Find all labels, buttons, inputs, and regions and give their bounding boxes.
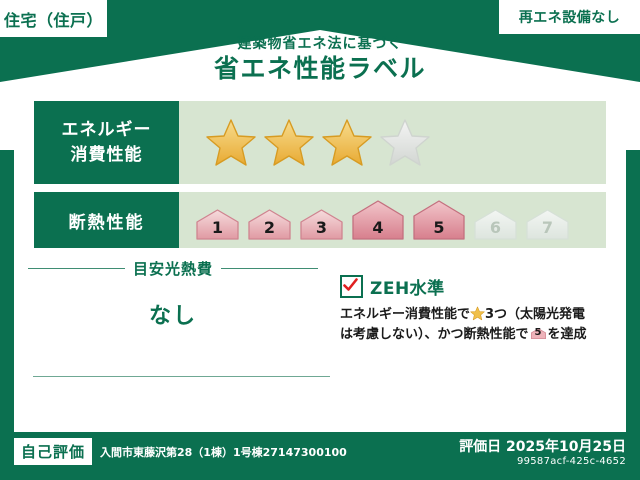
inline-grade-value: 5 (530, 325, 547, 341)
evaluation-type-badge: 自己評価 (14, 438, 92, 465)
grade-badge-4-value: 4 (349, 218, 407, 237)
grade-badge-6-value: 6 (471, 218, 520, 237)
inline-star-icon (470, 306, 485, 321)
check-icon (343, 278, 358, 293)
energy-performance-value (179, 117, 606, 169)
label-title: 建築物省エネ法に基づく 省エネ性能ラベル (0, 37, 640, 83)
star-rating (179, 117, 431, 169)
zeh-checkbox[interactable] (340, 275, 363, 298)
label-card: エネルギー 消費性能 (14, 88, 626, 432)
energy-label-line2: 消費性能 (71, 143, 143, 168)
zeh-heading: ZEH水準 (340, 274, 615, 299)
energy-label-line1: エネルギー (62, 118, 152, 143)
grade-badge-2: 2 (245, 206, 294, 242)
grade-badge-5-value: 5 (410, 218, 468, 237)
row-insulation-performance: 断熱性能 1 2 (34, 192, 606, 248)
property-address: 入間市東藤沢第28（1棟）1号棟27147300100 (100, 444, 347, 460)
evaluation-id: 99587acf-425c-4652 (517, 456, 626, 467)
utility-cost-heading: 目安光熱費 (28, 258, 318, 279)
energy-performance-label: 住宅（住戸） 再エネ設備なし 建築物省エネ法に基づく 省エネ性能ラベル エネルギ… (0, 0, 640, 480)
utility-cost-value: なし (28, 298, 318, 330)
zeh-description: エネルギー消費性能で3つ（太陽光発電 は考慮しない）、かつ断熱性能で5を達成 (340, 305, 615, 345)
grade-badge-3-value: 3 (297, 218, 346, 237)
grade-badge-7-value: 7 (523, 218, 572, 237)
star-icon-empty-4 (379, 117, 431, 169)
label-footer: 自己評価 入間市東藤沢第28（1棟）1号棟27147300100 評価日 202… (0, 432, 640, 480)
grade-badge-1: 1 (193, 206, 242, 242)
zeh-desc-stars: 3つ（太陽光発電 (485, 307, 585, 322)
star-icon-filled-3 (321, 117, 373, 169)
title-subtitle: 建築物省エネ法に基づく (0, 37, 640, 52)
grade-badge-3: 3 (297, 206, 346, 242)
star-icon-filled-2 (263, 117, 315, 169)
grade-badge-4: 4 (349, 198, 407, 242)
lower-section: 目安光熱費 なし ZEH水準 エネルギー消費性能で3つ（太陽光発電 は考慮しない… (14, 256, 626, 432)
lower-divider-rule (33, 376, 330, 377)
zeh-desc-part2: は考慮しない）、かつ断熱性能で (340, 327, 529, 342)
tab-renewable-status: 再エネ設備なし (499, 0, 640, 34)
zeh-desc-part1: エネルギー消費性能で (340, 307, 470, 322)
grade-badge-5: 5 (410, 198, 468, 242)
star-icon-filled-1 (205, 117, 257, 169)
heading-rule-right (221, 268, 318, 269)
grade-badge-6: 6 (471, 206, 520, 242)
tab-building-type: 住宅（住戸） (0, 0, 107, 37)
grade-badge-2-value: 2 (245, 218, 294, 237)
insulation-grade-scale: 1 2 3 (179, 198, 572, 242)
evaluation-date: 評価日 2025年10月25日 (459, 436, 626, 456)
grade-badge-1-value: 1 (193, 218, 242, 237)
inline-grade-badge: 5 (530, 326, 547, 341)
insulation-performance-label-key: 断熱性能 (34, 192, 179, 248)
energy-performance-label-key: エネルギー 消費性能 (34, 101, 179, 184)
heading-rule-left (28, 268, 125, 269)
title-main: 省エネ性能ラベル (0, 55, 640, 83)
zeh-desc-part3: を達成 (548, 327, 587, 342)
zeh-block: ZEH水準 エネルギー消費性能で3つ（太陽光発電 は考慮しない）、かつ断熱性能で… (340, 274, 615, 345)
insulation-performance-value: 1 2 3 (179, 198, 606, 242)
grade-badge-7: 7 (523, 206, 572, 242)
row-energy-performance: エネルギー 消費性能 (34, 101, 606, 184)
zeh-title: ZEH水準 (370, 274, 445, 299)
utility-cost-heading-text: 目安光熱費 (125, 258, 221, 279)
